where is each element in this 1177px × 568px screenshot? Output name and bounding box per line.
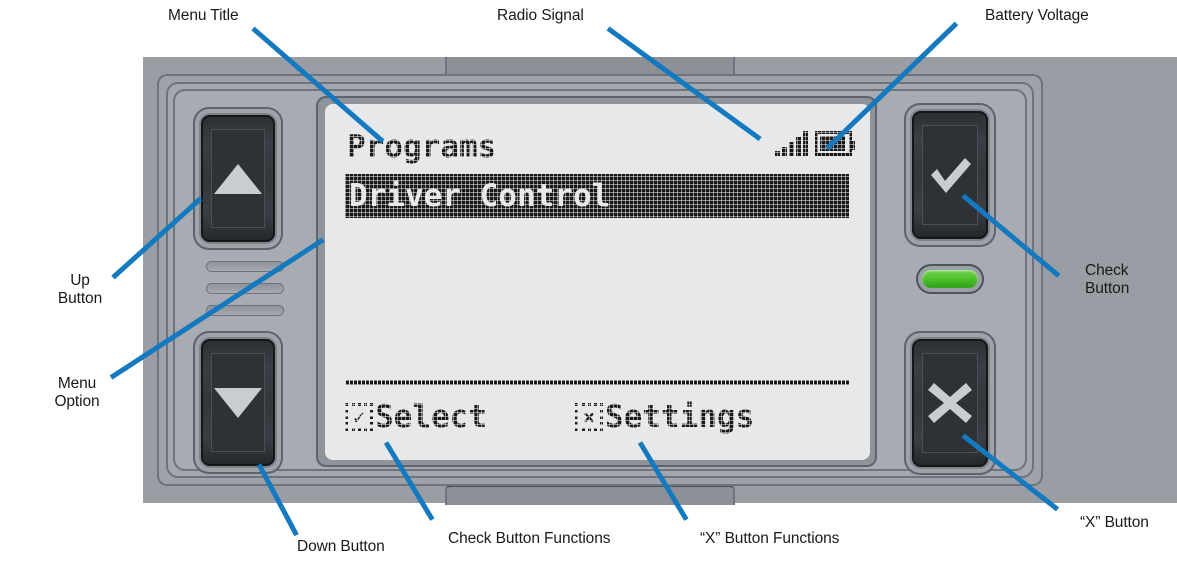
body-bottom-tab <box>445 485 735 505</box>
callout-x-button-functions: “X” Button Functions <box>700 530 839 548</box>
softkey-bar: ✓ Select × Settings <box>345 394 850 440</box>
check-button[interactable] <box>904 103 996 247</box>
callout-menu-title: Menu Title <box>168 7 239 25</box>
softkey-select[interactable]: ✓ Select <box>345 399 487 435</box>
triangle-down-icon <box>214 388 262 418</box>
check-box-icon: ✓ <box>345 403 373 431</box>
down-button[interactable] <box>193 331 283 474</box>
softkey-select-label: Select <box>375 399 487 435</box>
softkey-settings[interactable]: × Settings <box>575 399 754 435</box>
check-button-face <box>912 111 988 239</box>
callout-battery-voltage: Battery Voltage <box>985 7 1089 25</box>
callout-menu-option: Menu Option <box>30 375 124 412</box>
diagram-canvas: Programs Driver Control ✓ Select <box>0 0 1177 568</box>
down-button-face <box>201 339 275 466</box>
status-led <box>922 270 978 288</box>
x-box-icon: × <box>575 403 603 431</box>
lcd-screen: Programs Driver Control ✓ Select <box>325 104 870 460</box>
radio-signal-icon <box>775 130 808 156</box>
callout-x-button: “X” Button <box>1080 514 1149 532</box>
callout-check-button: Check Button <box>1085 262 1129 299</box>
check-icon <box>922 147 978 203</box>
close-x-icon <box>922 375 978 431</box>
triangle-up-icon <box>214 164 262 194</box>
page-title: Programs <box>347 132 496 163</box>
menu-option-selected[interactable]: Driver Control <box>345 174 849 218</box>
menu-option-label: Driver Control <box>345 178 610 214</box>
callout-radio-signal: Radio Signal <box>497 7 584 25</box>
callout-down-button: Down Button <box>297 538 385 556</box>
up-button[interactable] <box>193 107 283 250</box>
up-button-face <box>201 115 275 242</box>
callout-up-button: Up Button <box>35 272 125 309</box>
status-led-housing <box>916 264 984 294</box>
softkey-settings-label: Settings <box>605 399 754 435</box>
callout-check-button-functions: Check Button Functions <box>448 530 610 548</box>
softkey-divider <box>346 380 849 385</box>
